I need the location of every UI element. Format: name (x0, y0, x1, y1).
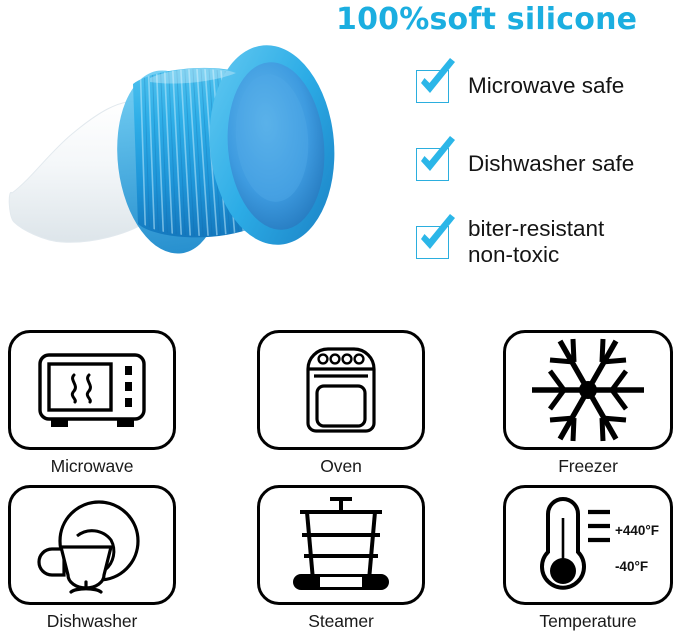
check-glyph (412, 135, 458, 181)
check-glyph (412, 213, 458, 259)
icon-card (257, 330, 425, 450)
feature-icon-grid: Microwave Oven (0, 322, 679, 631)
feature-label: Microwave safe (468, 73, 624, 99)
thermometer-ticks (588, 512, 610, 540)
grid-cell-freezer: Freezer (503, 330, 673, 477)
oven-icon (260, 333, 422, 447)
grid-cell-dishwasher: Dishwasher (8, 485, 176, 632)
temperature-max: +440°F (615, 524, 659, 538)
snowflake-center (579, 381, 597, 399)
check-glyph (412, 57, 458, 103)
icon-label: Microwave (8, 456, 176, 477)
checkbox-checked-icon (412, 63, 458, 109)
icon-label: Dishwasher (8, 611, 176, 632)
icon-label: Temperature (503, 611, 673, 632)
icon-card (8, 330, 176, 450)
feature-line-1: Dishwasher safe (468, 151, 634, 176)
feature-label: Dishwasher safe (468, 151, 634, 177)
product-photo (0, 10, 350, 280)
checkbox-checked-icon (412, 219, 458, 265)
feature-item-biter-resistant: biter-resistant non-toxic (412, 218, 679, 266)
steamer-icon (260, 488, 422, 602)
dishwasher-icon (11, 488, 173, 602)
icon-label: Steamer (257, 611, 425, 632)
temperature-min: -40°F (615, 560, 659, 574)
icon-card (503, 330, 673, 450)
icon-label: Oven (257, 456, 425, 477)
checkbox-checked-icon (412, 141, 458, 187)
grid-cell-oven: Oven (257, 330, 425, 477)
icon-card (257, 485, 425, 605)
hero-section: 100%soft silicone Microwave safe Dishw (0, 0, 679, 318)
feature-line-1: Microwave safe (468, 73, 624, 98)
icon-card (8, 485, 176, 605)
icon-label: Freezer (503, 456, 673, 477)
microwave-icon (11, 333, 173, 447)
feature-line-1: biter-resistant (468, 216, 604, 241)
feature-list: Microwave safe Dishwasher safe (412, 62, 679, 266)
grid-cell-steamer: Steamer (257, 485, 425, 632)
thermometer-bulb (550, 558, 576, 584)
snowflake-icon (506, 333, 670, 447)
grid-cell-microwave: Microwave (8, 330, 176, 477)
feature-line-2: non-toxic (468, 242, 604, 268)
feature-label: biter-resistant non-toxic (468, 216, 604, 268)
grid-cell-temperature: +440°F -40°F Temperature (503, 485, 673, 632)
temperature-values: +440°F -40°F (615, 524, 659, 573)
feature-item-microwave-safe: Microwave safe (412, 62, 679, 110)
page-title: 100%soft silicone (336, 2, 679, 37)
icon-card: +440°F -40°F (503, 485, 673, 605)
feature-item-dishwasher-safe: Dishwasher safe (412, 140, 679, 188)
steamer-base-window (320, 577, 362, 587)
